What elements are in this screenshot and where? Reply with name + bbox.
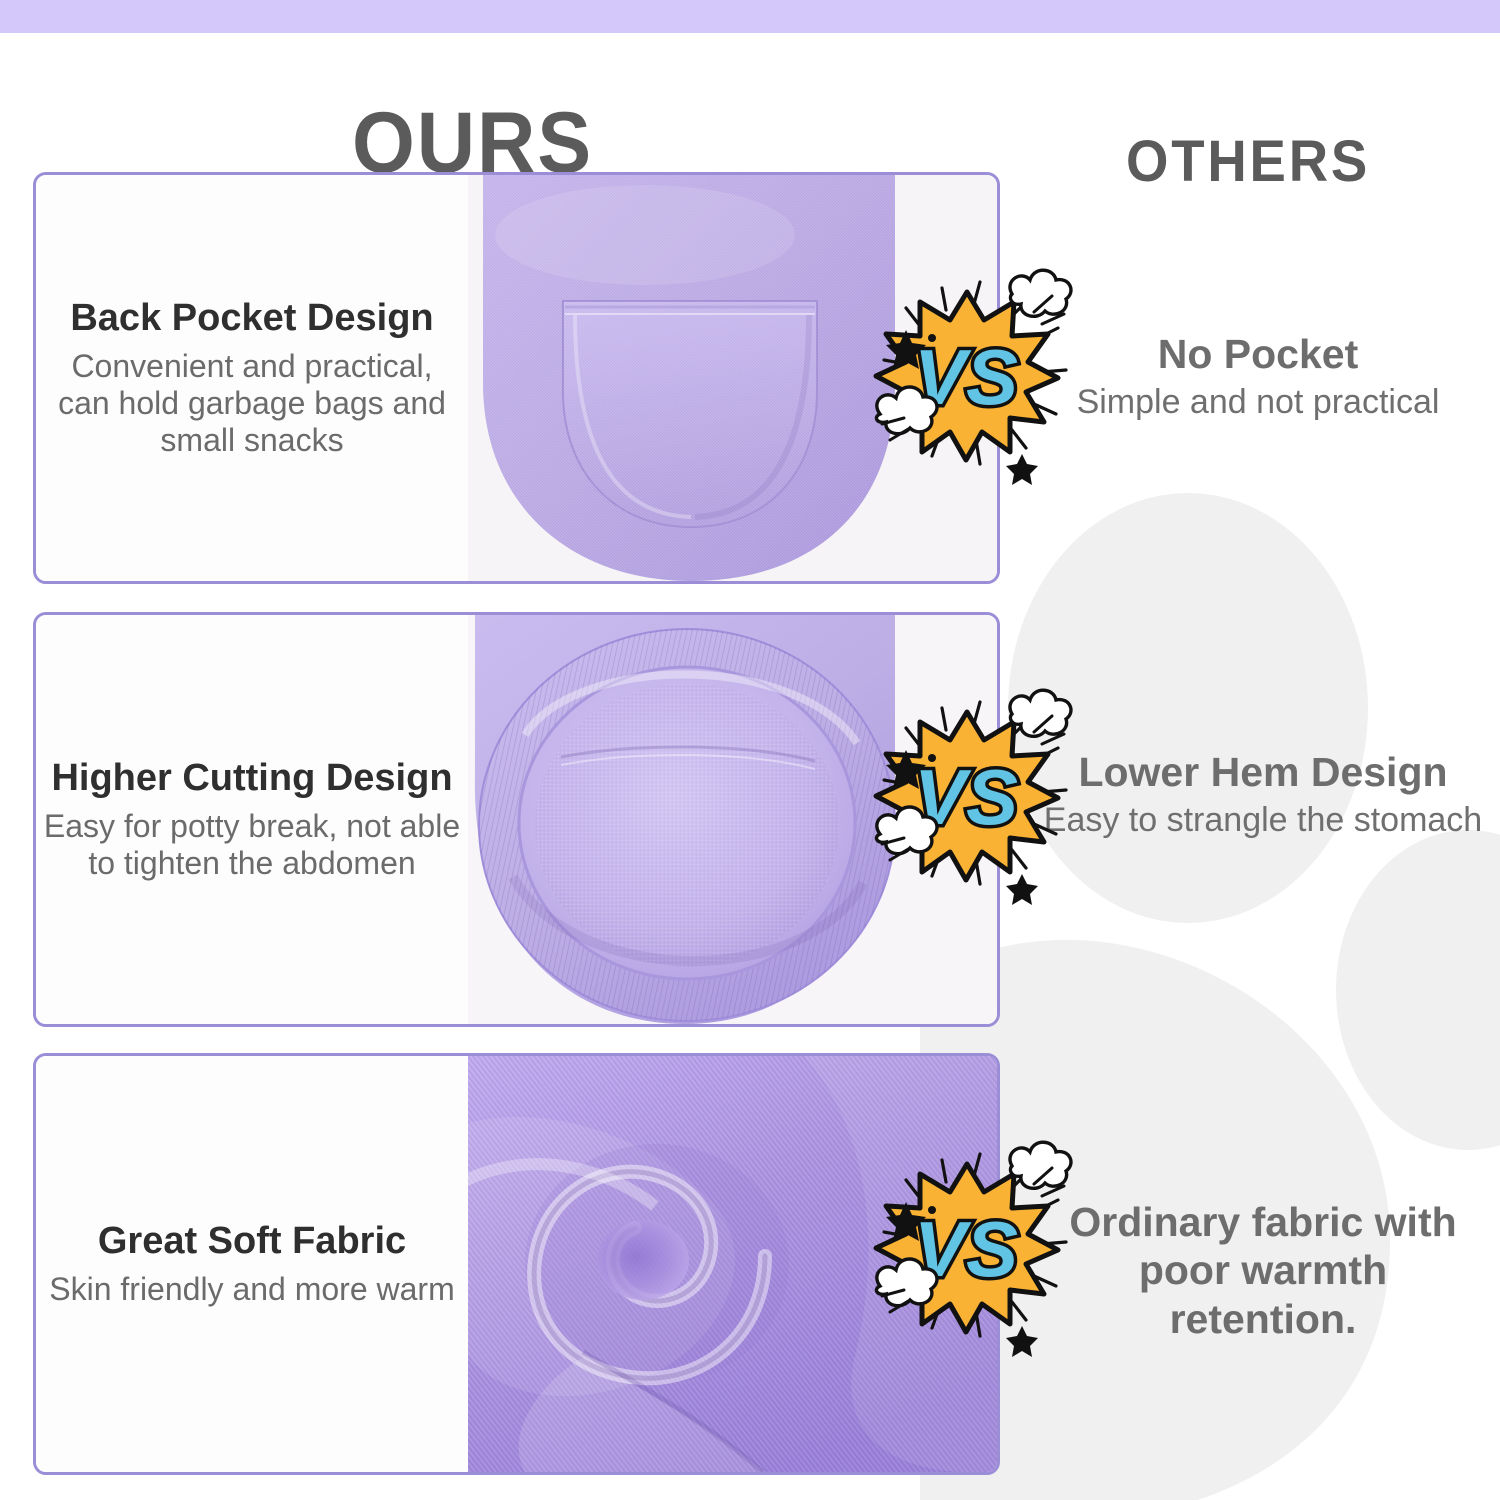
others-feature-description: Simple and not practical	[1032, 383, 1484, 423]
ours-feature-title: Back Pocket Design	[70, 297, 433, 340]
others-header: OTHERS	[1126, 133, 1370, 191]
others-feature-title: No Pocket	[1032, 332, 1484, 377]
ours-feature-block: Back Pocket Design Convenient and practi…	[36, 175, 468, 581]
ours-feature-block: Higher Cutting Design Easy for potty bre…	[36, 615, 468, 1024]
ours-feature-description: Skin friendly and more warm	[49, 1271, 454, 1308]
ours-feature-description: Easy for potty break, not able to tighte…	[42, 808, 462, 882]
others-feature-block: Lower Hem Design Easy to strangle the st…	[1040, 750, 1486, 841]
ours-feature-title: Great Soft Fabric	[98, 1220, 406, 1263]
comparison-row-fabric: Great Soft Fabric Skin friendly and more…	[33, 1053, 1000, 1475]
comparison-row-cutting: Higher Cutting Design Easy for potty bre…	[33, 612, 1000, 1027]
comparison-infographic: OURS OTHERS Back Pocket Design Convenien…	[0, 0, 1500, 1500]
top-accent-bar	[0, 0, 1500, 33]
column-headers: OURS OTHERS	[0, 48, 1500, 158]
comparison-row-pocket: Back Pocket Design Convenient and practi…	[33, 172, 1000, 584]
ours-feature-block: Great Soft Fabric Skin friendly and more…	[36, 1056, 468, 1472]
others-feature-title: Ordinary fabric with poor warmth retenti…	[1040, 1198, 1486, 1343]
ours-feature-title: Higher Cutting Design	[51, 757, 452, 800]
others-feature-block: Ordinary fabric with poor warmth retenti…	[1040, 1198, 1486, 1343]
others-feature-block: No Pocket Simple and not practical	[1032, 332, 1484, 423]
ours-feature-description: Convenient and practical, can hold garba…	[42, 348, 462, 459]
product-photo-high-cut-hem	[468, 615, 997, 1024]
product-photo-soft-fabric	[468, 1056, 997, 1472]
others-feature-title: Lower Hem Design	[1040, 750, 1486, 795]
product-photo-back-pocket	[468, 175, 997, 581]
others-feature-description: Easy to strangle the stomach	[1040, 801, 1486, 841]
